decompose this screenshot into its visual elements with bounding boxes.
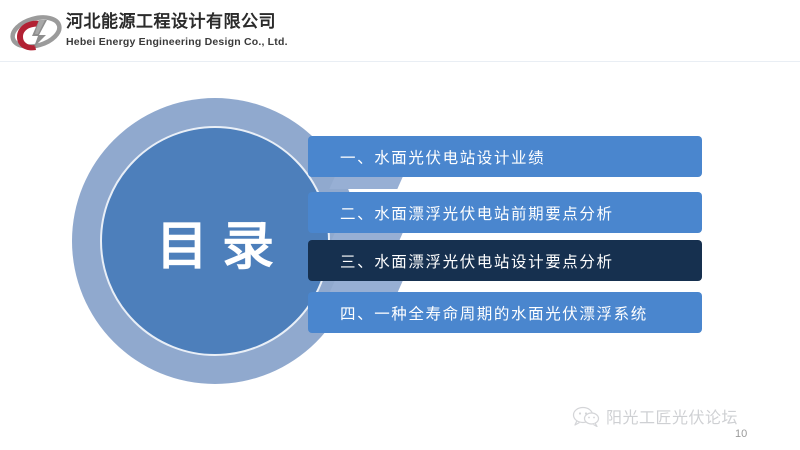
- agenda-item-3-label: 三、水面漂浮光伏电站设计要点分析: [340, 250, 614, 272]
- agenda-list: 一、水面光伏电站设计业绩 二、水面漂浮光伏电站前期要点分析 三、水面漂浮光伏电站…: [0, 0, 800, 450]
- agenda-item-2-wrap: 二、水面漂浮光伏电站前期要点分析: [308, 192, 702, 233]
- slide-root: 河北能源工程设计有限公司 Hebei Energy Engineering De…: [0, 0, 800, 450]
- page-number: 10: [735, 428, 747, 440]
- wechat-bubbles-icon: [572, 405, 600, 427]
- agenda-item-1-wrap: 一、水面光伏电站设计业绩: [308, 136, 702, 177]
- agenda-item-1[interactable]: 一、水面光伏电站设计业绩: [308, 136, 702, 177]
- agenda-item-2-label: 二、水面漂浮光伏电站前期要点分析: [340, 202, 614, 224]
- watermark: 阳光工匠光伏论坛: [572, 404, 738, 428]
- watermark-text: 阳光工匠光伏论坛: [606, 404, 738, 428]
- agenda-item-4-label: 四、一种全寿命周期的水面光伏漂浮系统: [340, 302, 648, 324]
- agenda-item-4-wrap: 四、一种全寿命周期的水面光伏漂浮系统: [308, 292, 702, 333]
- agenda-item-3[interactable]: 三、水面漂浮光伏电站设计要点分析: [308, 240, 702, 281]
- agenda-item-3-wrap: 三、水面漂浮光伏电站设计要点分析: [308, 240, 702, 281]
- agenda-item-4[interactable]: 四、一种全寿命周期的水面光伏漂浮系统: [308, 292, 702, 333]
- agenda-item-1-label: 一、水面光伏电站设计业绩: [340, 146, 545, 168]
- agenda-item-1-tab: [329, 177, 402, 189]
- agenda-item-2[interactable]: 二、水面漂浮光伏电站前期要点分析: [308, 192, 702, 233]
